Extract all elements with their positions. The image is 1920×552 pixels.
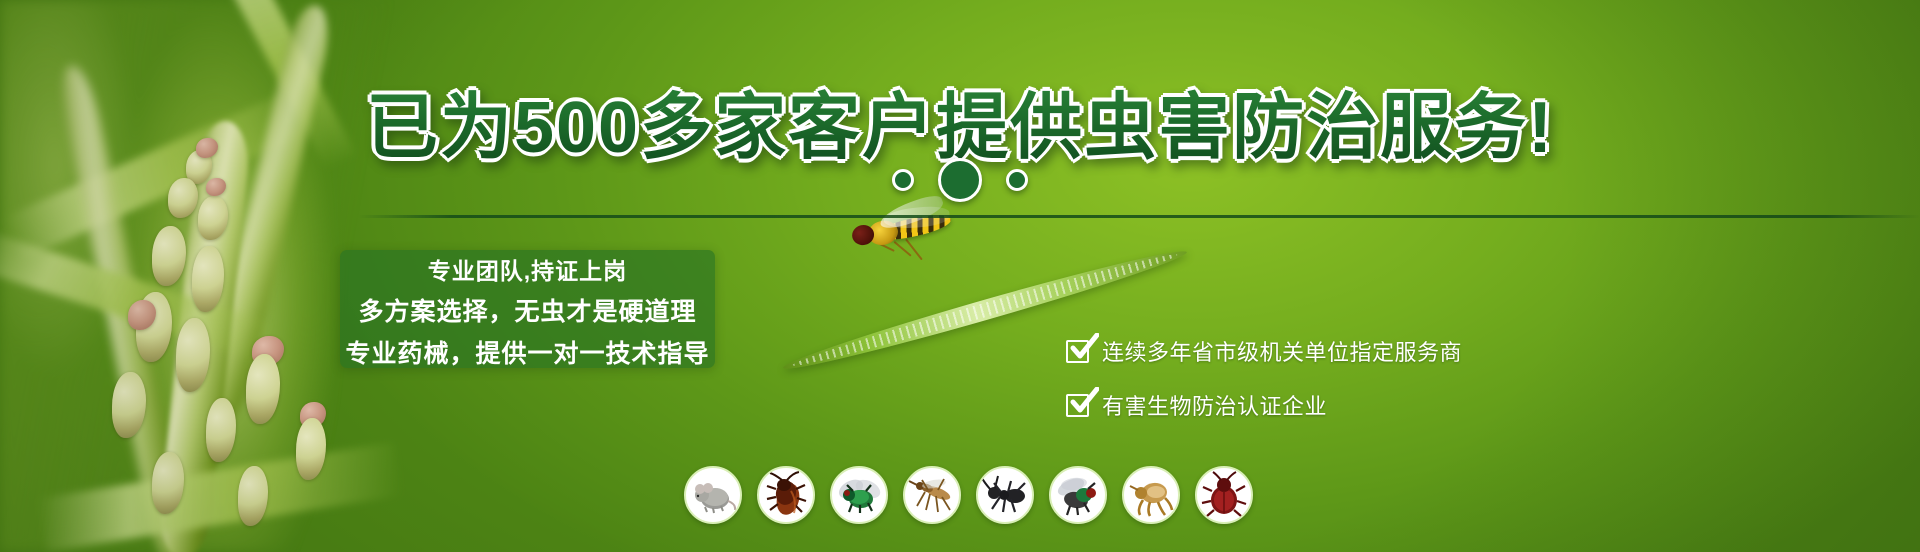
slogan-line-1: 专业团队,持证上岗 [428, 252, 627, 286]
pest-icon-flea[interactable]: 跳蚤 [1122, 466, 1180, 524]
list-item: 连续多年省市级机关单位指定服务商 [1066, 335, 1462, 367]
feature-label: 连续多年省市级机关单位指定服务商 [1102, 335, 1462, 367]
pest-icon-cockroach[interactable]: 蟑螂 [757, 466, 815, 524]
horizontal-divider [358, 215, 1920, 218]
list-item: 有害生物防治认证企业 [1066, 389, 1462, 421]
checkbox-checked-icon [1066, 340, 1089, 363]
mouse-icon [689, 471, 737, 519]
ant-icon [981, 471, 1029, 519]
pest-icon-blowfly[interactable]: 苍蝇 [830, 466, 888, 524]
pest-icon-row: 鼠 蟑螂 苍蝇 [684, 466, 1253, 524]
flea-icon [1127, 471, 1175, 519]
blowfly-icon [835, 471, 883, 519]
slogan-line-2: 多方案选择，无虫才是硬道理 [358, 292, 696, 328]
slogan-panel-content: 专业团队,持证上岗 多方案选择，无虫才是硬道理 专业药械，提供一对一技术指导 [340, 252, 715, 370]
decorative-dot-small-right [1006, 169, 1028, 191]
slogan-line-3: 专业药械，提供一对一技术指导 [345, 334, 709, 370]
pest-icon-bedbug[interactable]: 臭虫 [1195, 466, 1253, 524]
cockroach-icon [762, 471, 810, 519]
pest-icon-mouse[interactable]: 鼠 [684, 466, 742, 524]
promo-banner: 已为500多家客户提供虫害防治服务! 专业团队,持证上岗 多方案选择，无虫才是硬… [0, 0, 1920, 552]
decorative-dot-small-left [892, 169, 914, 191]
checkbox-checked-icon [1066, 394, 1089, 417]
pest-icon-housefly[interactable]: 家蝇 [1049, 466, 1107, 524]
feature-label: 有害生物防治认证企业 [1102, 389, 1327, 421]
pest-icon-ant[interactable]: 蚂蚁 [976, 466, 1034, 524]
pest-icon-mosquito[interactable]: 蚊 [903, 466, 961, 524]
mosquito-icon [908, 471, 956, 519]
feature-list: 连续多年省市级机关单位指定服务商 有害生物防治认证企业 [1066, 335, 1462, 421]
bedbug-icon [1200, 471, 1248, 519]
decorative-dot-large-center [938, 158, 982, 202]
housefly-icon [1054, 471, 1102, 519]
decorative-dot-group [0, 158, 1920, 202]
